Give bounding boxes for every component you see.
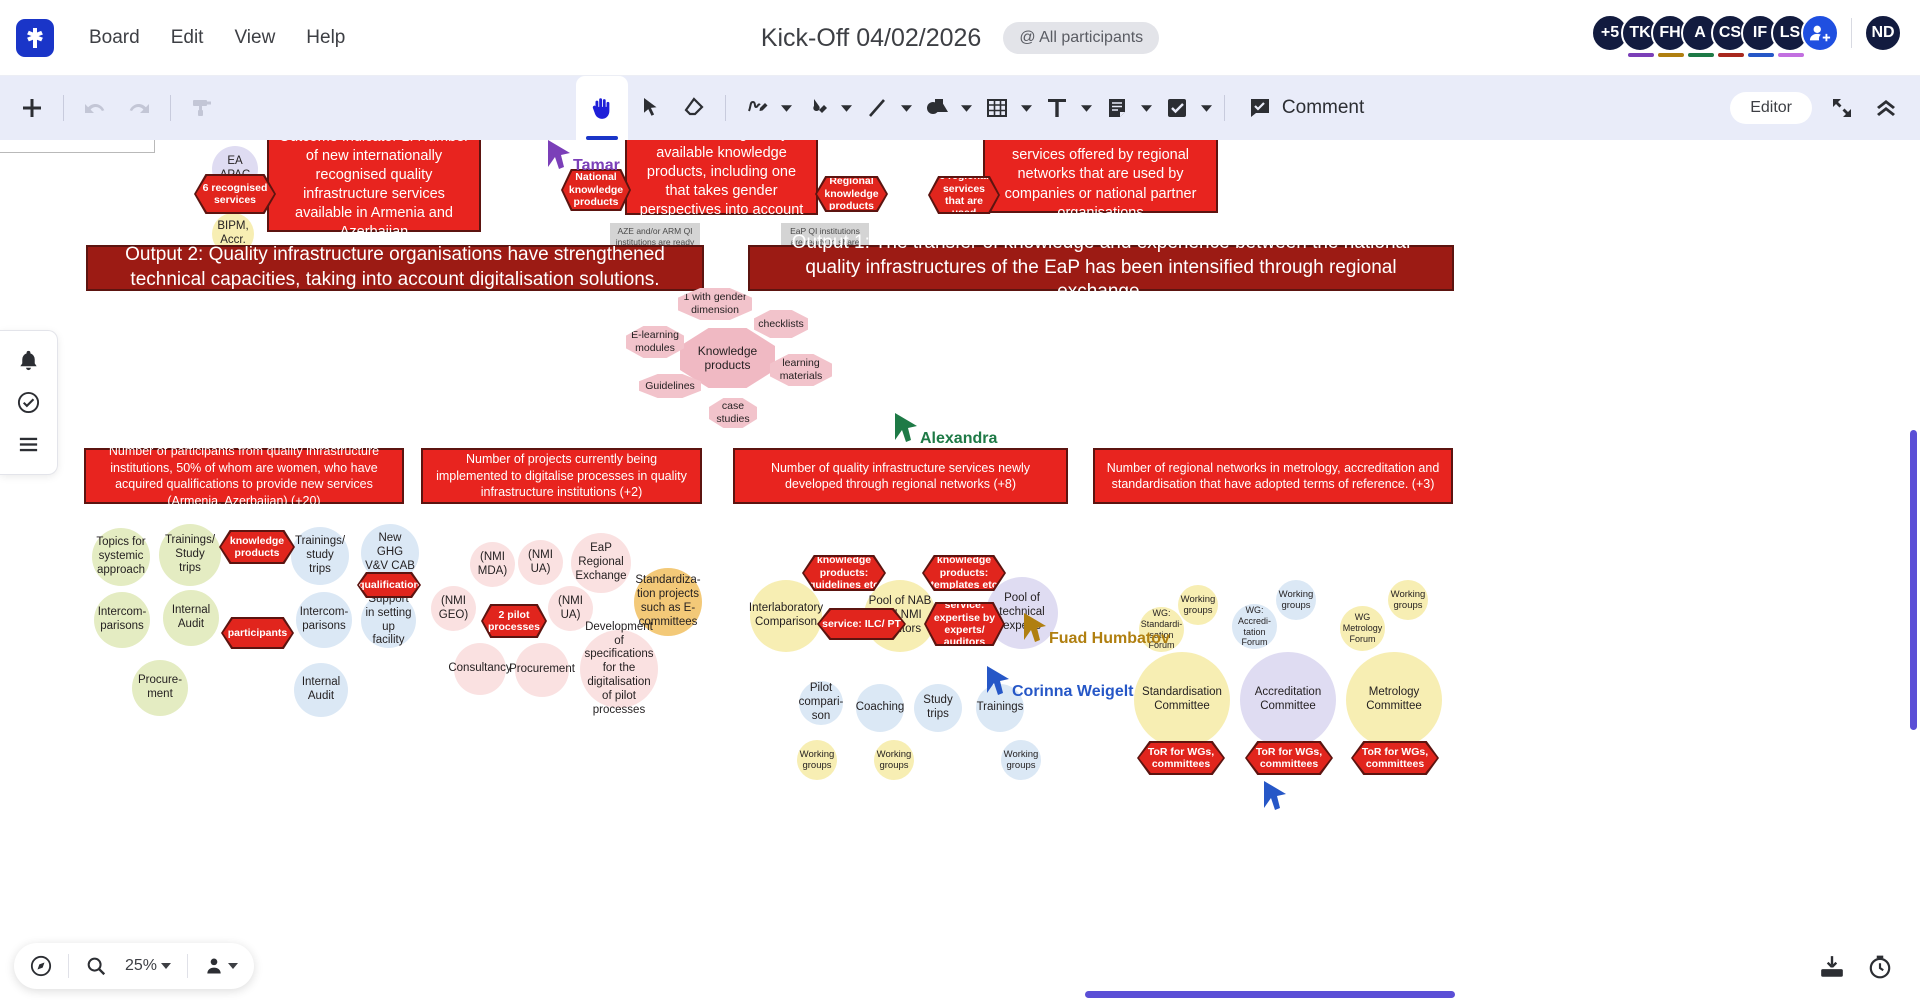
hexagon-node[interactable]: service: ILC/ PT bbox=[817, 608, 906, 640]
zoom-level-value: 25% bbox=[125, 957, 157, 975]
text-tool-caret[interactable] bbox=[1079, 103, 1095, 114]
cursor-label: Fuad Humbatov bbox=[1049, 630, 1170, 648]
avatar-label: +5 bbox=[1601, 24, 1619, 42]
hexagon-label: ToR for WGs, committees bbox=[1353, 743, 1437, 773]
comment-icon bbox=[1248, 96, 1272, 120]
sticky-tool-caret[interactable] bbox=[1139, 103, 1155, 114]
left-side-panel bbox=[0, 330, 58, 475]
format-painter-button[interactable] bbox=[180, 86, 224, 130]
menu-edit[interactable]: Edit bbox=[158, 21, 217, 55]
import-icon bbox=[1819, 954, 1845, 980]
avatar-me[interactable]: ND bbox=[1864, 14, 1902, 52]
hexagon-label: National knowledge products bbox=[563, 171, 629, 209]
line-tool-caret[interactable] bbox=[899, 103, 915, 114]
hand-tool[interactable] bbox=[576, 76, 628, 140]
outcome-box[interactable]: Outcome indicator 3: Number of regionall… bbox=[625, 140, 818, 215]
canvas-circle[interactable]: Topics for systemic approach bbox=[92, 528, 150, 586]
outline-button[interactable] bbox=[14, 430, 44, 460]
hexagon-node[interactable]: qualification bbox=[357, 572, 421, 598]
board-title[interactable]: Kick-Off 04/02/2026 bbox=[761, 24, 982, 53]
avatar-label: LS bbox=[1780, 24, 1800, 42]
fullscreen-button[interactable] bbox=[1820, 86, 1864, 130]
cursor-label: Tamar bbox=[573, 157, 620, 175]
toolbar: Comment Editor bbox=[0, 76, 1920, 140]
task-tool[interactable] bbox=[1155, 86, 1199, 130]
hexagon-label: knowledge products bbox=[221, 532, 293, 562]
menu-help[interactable]: Help bbox=[293, 21, 358, 55]
canvas-circle[interactable]: Internal Audit bbox=[294, 663, 348, 717]
avatar-label: FH bbox=[1659, 24, 1680, 42]
hexagon-label: 2 pilot processes bbox=[483, 606, 545, 636]
undo-button[interactable] bbox=[73, 86, 117, 130]
magnifier-icon bbox=[85, 955, 107, 977]
board-frame-partial[interactable] bbox=[0, 140, 155, 153]
canvas-circle[interactable]: Trainings/ study trips bbox=[291, 527, 349, 585]
hexagon-label: knowledge products: templates etc bbox=[924, 557, 1004, 589]
avatar-label: CS bbox=[1719, 24, 1741, 42]
hexagon-node[interactable]: ToR for WGs, committees bbox=[1351, 741, 1439, 775]
canvas-circle[interactable]: Trainings/ Study trips bbox=[159, 524, 221, 586]
indicator-box[interactable]: Number of quality infrastructure service… bbox=[733, 448, 1068, 504]
hand-icon bbox=[589, 95, 615, 121]
hexagon-node[interactable]: ToR for WGs, committees bbox=[1245, 741, 1333, 775]
fullscreen-icon bbox=[1830, 96, 1854, 120]
hexagon-label: ToR for WGs, committees bbox=[1139, 743, 1223, 773]
octagon-node[interactable]: 1 with gender dimension bbox=[678, 288, 752, 320]
live-cursor: Corinna Weigelt bbox=[985, 665, 1134, 701]
check-circle-icon bbox=[17, 391, 40, 414]
bottom-status-bar: 25% bbox=[14, 943, 254, 989]
add-content-button[interactable] bbox=[10, 86, 54, 130]
table-tool-caret[interactable] bbox=[1019, 103, 1035, 114]
octagon-node[interactable]: case studies bbox=[709, 398, 757, 428]
canvas-circle[interactable]: Working groups bbox=[1001, 740, 1041, 780]
highlighter-tool[interactable] bbox=[795, 86, 839, 130]
main-menu: Board Edit View Help bbox=[76, 21, 358, 55]
bottom-divider-2 bbox=[187, 954, 188, 978]
hexagon-label: Regional knowledge products bbox=[817, 178, 886, 210]
hexagon-node[interactable]: 2 pilot processes bbox=[481, 604, 547, 638]
hexagon-label: qualification bbox=[359, 574, 419, 596]
hexagon-label: knowledge products: guidelines etc bbox=[804, 557, 884, 589]
toolbar-divider bbox=[63, 95, 64, 121]
hexagon-node[interactable]: knowledge products: guidelines etc bbox=[802, 555, 886, 591]
highlighter-icon bbox=[805, 96, 829, 120]
double-chevron-up-icon bbox=[1874, 96, 1898, 120]
presence-selector[interactable] bbox=[198, 956, 244, 976]
line-icon bbox=[865, 96, 889, 120]
canvas-circle[interactable]: Working groups bbox=[1276, 580, 1316, 620]
collapse-toolbar-button[interactable] bbox=[1864, 86, 1908, 130]
live-cursor: Alexandra bbox=[893, 412, 997, 448]
pointer-icon bbox=[638, 96, 662, 120]
canvas-circle[interactable]: Procurement bbox=[515, 643, 569, 697]
hexagon-node[interactable]: participants bbox=[221, 617, 294, 649]
navigator-button[interactable] bbox=[24, 949, 58, 983]
comment-label: Comment bbox=[1282, 97, 1364, 119]
avatar-group: +5 TK FH A CS IF LS ND bbox=[1599, 14, 1902, 52]
hexagon-label: service: ILC/ PT bbox=[819, 610, 904, 638]
avatar-label: IF bbox=[1753, 24, 1767, 42]
output-banner[interactable]: Output 2: Quality infrastructure organis… bbox=[86, 245, 704, 291]
add-person-icon[interactable] bbox=[1801, 14, 1839, 52]
sticky-tool[interactable] bbox=[1095, 86, 1139, 130]
hexagon-node[interactable]: ToR for WGs, committees bbox=[1137, 741, 1225, 775]
menu-board[interactable]: Board bbox=[76, 21, 153, 55]
indicator-box[interactable]: Number of participants from quality infr… bbox=[84, 448, 404, 504]
presence-icon bbox=[204, 956, 224, 976]
vertical-scrollbar[interactable] bbox=[1910, 430, 1917, 730]
checkbox-icon bbox=[1165, 96, 1189, 120]
canvas-circle[interactable]: Consultancy bbox=[454, 643, 506, 695]
tasks-button[interactable] bbox=[14, 387, 44, 417]
hexagon-node[interactable]: 6 regional services that are used bbox=[928, 176, 1000, 214]
redo-button[interactable] bbox=[117, 86, 161, 130]
live-cursor: Fuad Humbatov bbox=[1022, 612, 1170, 648]
cursor-pointer-icon bbox=[1022, 612, 1048, 642]
hexagon-label: ToR for WGs, committees bbox=[1247, 743, 1331, 773]
hexagon-label: 6 recognised services bbox=[196, 176, 274, 212]
text-icon bbox=[1045, 96, 1069, 120]
canvas-circle[interactable]: Working groups bbox=[874, 740, 914, 780]
hexagon-node[interactable]: 6 recognised services bbox=[194, 174, 276, 214]
indicator-box[interactable]: Number of projects currently being imple… bbox=[421, 448, 702, 504]
menu-view[interactable]: View bbox=[221, 21, 288, 55]
cursor-pointer-icon bbox=[546, 140, 572, 169]
canvas-circle[interactable]: (NMI UA) bbox=[518, 540, 563, 585]
pen-tool[interactable] bbox=[735, 86, 779, 130]
canvas-circle[interactable]: Intercom-parisons bbox=[296, 592, 352, 648]
bottom-divider bbox=[68, 954, 69, 978]
output-banner[interactable]: Output 1: The transfer of knowledge and … bbox=[748, 245, 1454, 291]
app-logo-icon[interactable] bbox=[16, 19, 54, 57]
import-button[interactable] bbox=[1810, 945, 1854, 989]
octagon-node[interactable]: Guidelines bbox=[639, 374, 701, 398]
canvas-circle[interactable]: Coaching bbox=[856, 684, 904, 732]
octagon-node[interactable]: checklists bbox=[754, 310, 808, 338]
live-cursor bbox=[1262, 780, 1288, 810]
canvas-circle[interactable]: Procure-ment bbox=[132, 660, 188, 716]
table-tool[interactable] bbox=[975, 86, 1019, 130]
toolbar-divider-2 bbox=[170, 95, 171, 121]
sticky-note-icon bbox=[1105, 96, 1129, 120]
hexagon-label: 6 regional services that are used bbox=[930, 178, 998, 212]
outcome-box[interactable]: Outcome Indicator 1: Number of new inter… bbox=[267, 140, 481, 232]
avatar-label: TK bbox=[1629, 24, 1650, 42]
octagon-node[interactable]: learning materials bbox=[770, 354, 832, 386]
avatar-label: A bbox=[1694, 24, 1706, 42]
toolbar-divider-4 bbox=[1224, 95, 1225, 121]
chevron-down-icon bbox=[161, 963, 171, 969]
canvas-circle[interactable]: WG Metrology Forum bbox=[1340, 606, 1385, 651]
canvas-circle[interactable]: Internal Audit bbox=[163, 590, 219, 646]
select-tool[interactable] bbox=[628, 86, 672, 130]
zoom-level-selector[interactable]: 25% bbox=[119, 957, 177, 975]
canvas-circle[interactable]: Accreditation Committee bbox=[1240, 652, 1336, 748]
pen-icon bbox=[745, 96, 769, 120]
horizontal-scrollbar[interactable] bbox=[1085, 991, 1455, 998]
hexagon-node[interactable]: knowledge products bbox=[219, 530, 295, 564]
canvas-circle[interactable]: Metrology Committee bbox=[1346, 652, 1442, 748]
hexagon-node[interactable]: knowledge products: templates etc bbox=[922, 555, 1006, 591]
cursor-pointer-icon bbox=[985, 665, 1011, 695]
eraser-icon bbox=[682, 96, 706, 120]
list-icon bbox=[17, 433, 40, 456]
canvas-circle[interactable]: Pilot compari-son bbox=[799, 681, 843, 725]
task-tool-caret[interactable] bbox=[1199, 103, 1215, 114]
live-cursor: Tamar bbox=[546, 140, 620, 175]
notifications-button[interactable] bbox=[14, 345, 44, 375]
canvas-circle[interactable]: (NMI MDA) bbox=[470, 542, 515, 587]
cursor-label: Alexandra bbox=[920, 430, 997, 448]
hexagon-node[interactable]: service: expertise by experts/ auditors bbox=[924, 602, 1005, 646]
cursor-label: Corinna Weigelt bbox=[1012, 683, 1134, 701]
canvas-circle[interactable]: Support in setting up facility bbox=[361, 593, 416, 648]
comment-button[interactable]: Comment bbox=[1234, 90, 1378, 126]
canvas-circle[interactable]: Working groups bbox=[1178, 585, 1218, 625]
table-icon bbox=[985, 96, 1009, 120]
toolbar-divider-3 bbox=[725, 95, 726, 121]
canvas-circle[interactable]: (NMI GEO) bbox=[431, 586, 476, 631]
canvas-circle[interactable]: Working groups bbox=[1388, 580, 1428, 620]
outcome-box[interactable]: Outcome Indicator 1: Number of services … bbox=[983, 140, 1218, 213]
line-tool[interactable] bbox=[855, 86, 899, 130]
editor-mode-pill[interactable]: Editor bbox=[1730, 92, 1812, 124]
cursor-pointer-icon bbox=[893, 412, 919, 442]
hexagon-label: service: expertise by experts/ auditors bbox=[926, 604, 1003, 644]
canvas-circle[interactable]: WG: Accredi-tation Forum bbox=[1232, 604, 1277, 649]
pen-tool-caret[interactable] bbox=[779, 103, 795, 114]
eraser-tool[interactable] bbox=[672, 86, 716, 130]
canvas-circle[interactable]: Standardisation Committee bbox=[1134, 652, 1230, 748]
board-canvas[interactable]: digitalisation for clarity and collabora… bbox=[0, 140, 1920, 1001]
indicator-box[interactable]: Number of regional networks in metrology… bbox=[1093, 448, 1453, 504]
canvas-circle[interactable]: Study trips bbox=[914, 684, 962, 732]
compass-icon bbox=[30, 955, 52, 977]
canvas-circle[interactable]: Intercom-parisons bbox=[94, 592, 150, 648]
chevron-down-icon-2 bbox=[228, 963, 238, 969]
highlighter-tool-caret[interactable] bbox=[839, 103, 855, 114]
tool-group: Comment bbox=[576, 76, 1378, 140]
canvas-circle[interactable]: EaP Regional Exchange bbox=[571, 533, 631, 593]
avatar-divider bbox=[1851, 18, 1852, 48]
bottom-right-tools bbox=[1810, 945, 1902, 989]
timer-button[interactable] bbox=[1858, 945, 1902, 989]
hexagon-node[interactable]: Regional knowledge products bbox=[815, 176, 888, 212]
hexagon-node[interactable]: National knowledge products bbox=[561, 169, 631, 211]
cursor-pointer-icon bbox=[1262, 780, 1288, 810]
shape-tool-caret[interactable] bbox=[959, 103, 975, 114]
hexagon-label: participants bbox=[223, 619, 292, 647]
text-tool[interactable] bbox=[1035, 86, 1079, 130]
avatar-label: ND bbox=[1871, 24, 1894, 42]
timer-icon bbox=[1867, 954, 1893, 980]
all-participants-badge[interactable]: @ All participants bbox=[1003, 22, 1159, 54]
shape-tool[interactable] bbox=[915, 86, 959, 130]
zoom-button[interactable] bbox=[79, 949, 113, 983]
shapes-icon bbox=[925, 96, 949, 120]
octagon-node[interactable]: E-learning modules bbox=[626, 326, 684, 358]
canvas-circle[interactable]: Working groups bbox=[797, 740, 837, 780]
bell-icon bbox=[17, 349, 40, 372]
canvas-circle[interactable]: Development of specifications for the di… bbox=[580, 630, 658, 708]
